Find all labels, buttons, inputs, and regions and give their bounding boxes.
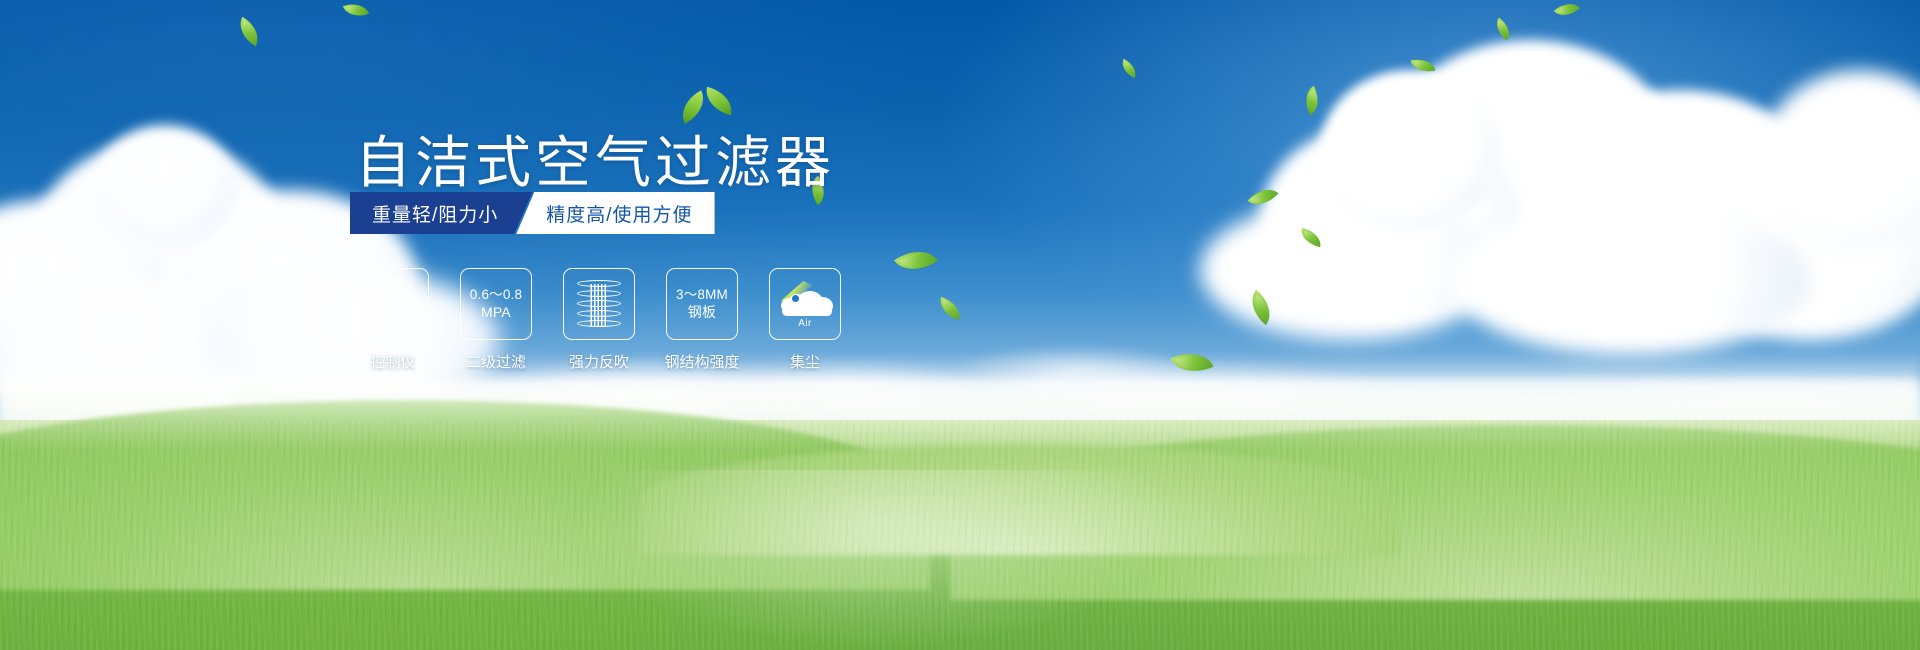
air-label: Air bbox=[777, 318, 833, 329]
dial-label-no: NO bbox=[363, 300, 373, 307]
feature-item: 强力反吹 bbox=[563, 268, 635, 372]
banner-title: 自洁式空气过滤器 bbox=[355, 118, 835, 199]
feature-caption: 强力反吹 bbox=[569, 351, 629, 372]
feature-icon-box: Air bbox=[769, 268, 841, 340]
feature-item: 3～8MM 钢板 钢结构强度 bbox=[666, 268, 738, 372]
filter-coil-icon bbox=[576, 278, 622, 330]
dial-label-off: OFF bbox=[408, 323, 421, 329]
steel-thickness: 3～8MM bbox=[676, 287, 728, 304]
dial-pointer bbox=[389, 290, 397, 322]
pressure-text-icon: 0.6～0.8 MPA bbox=[470, 287, 522, 321]
feature-item: Air 集尘 bbox=[769, 268, 841, 372]
feature-icon-box: NO OFF bbox=[357, 268, 429, 340]
tagline-pill-primary: 重量轻/阻力小 bbox=[350, 192, 532, 234]
air-cloud-icon: Air bbox=[777, 281, 833, 327]
feature-list: NO OFF 控制仪 0.6～0.8 MPA 二级过滤 bbox=[357, 268, 841, 372]
control-dial-icon: NO OFF bbox=[364, 278, 422, 330]
steel-plate-text-icon: 3～8MM 钢板 bbox=[676, 287, 728, 321]
sprout-leaf-icon bbox=[678, 88, 738, 128]
steel-material: 钢板 bbox=[676, 304, 728, 322]
hero-banner: 自洁式空气过滤器 重量轻/阻力小 精度高/使用方便 bbox=[0, 0, 1920, 650]
tagline-pill-secondary: 精度高/使用方便 bbox=[516, 192, 714, 234]
pressure-unit: MPA bbox=[470, 304, 522, 322]
feature-icon-box: 3～8MM 钢板 bbox=[666, 268, 738, 340]
banner-content: 自洁式空气过滤器 重量轻/阻力小 精度高/使用方便 bbox=[0, 0, 1920, 650]
pressure-value: 0.6～0.8 bbox=[470, 287, 522, 304]
feature-item: 0.6～0.8 MPA 二级过滤 bbox=[460, 268, 532, 372]
feature-caption: 钢结构强度 bbox=[665, 351, 740, 372]
feature-caption: 集尘 bbox=[790, 351, 820, 372]
feature-caption: 二级过滤 bbox=[466, 351, 526, 372]
feature-item: NO OFF 控制仪 bbox=[357, 268, 429, 372]
feature-icon-box bbox=[563, 268, 635, 340]
tagline-pills: 重量轻/阻力小 精度高/使用方便 bbox=[350, 192, 715, 234]
feature-caption: 控制仪 bbox=[370, 351, 415, 372]
feature-icon-box: 0.6～0.8 MPA bbox=[460, 268, 532, 340]
